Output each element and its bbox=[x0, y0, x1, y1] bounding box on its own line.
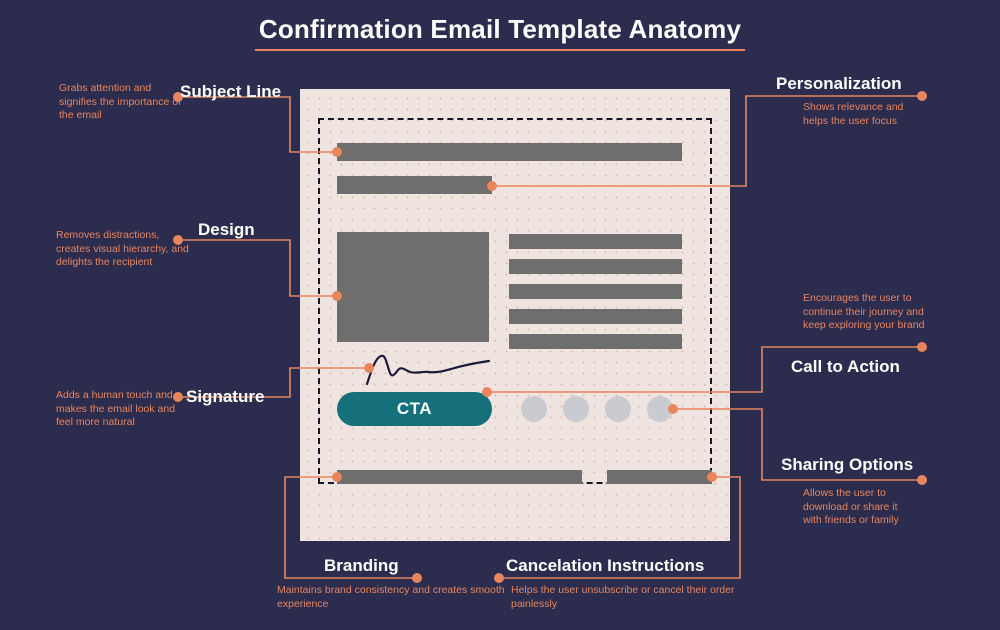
connector-dot bbox=[412, 573, 422, 583]
cta-button-label: CTA bbox=[397, 399, 432, 419]
label-subject-line: Subject Line bbox=[180, 82, 281, 102]
description-design: Removes distractions, creates visual hie… bbox=[56, 229, 191, 270]
body-text-bar bbox=[509, 259, 682, 274]
label-signature: Signature bbox=[186, 387, 264, 407]
social-share-icon[interactable] bbox=[605, 396, 631, 422]
infographic-canvas: Confirmation Email Template Anatomy CTA bbox=[0, 0, 1000, 630]
connector-dot bbox=[494, 573, 504, 583]
cancelation-footer-bar bbox=[607, 470, 712, 484]
description-subject-line: Grabs attention and signifies the import… bbox=[59, 82, 184, 123]
description-branding: Maintains brand consistency and creates … bbox=[277, 584, 507, 611]
body-text-bar bbox=[509, 309, 682, 324]
description-sharing-options: Allows the user to download or share it … bbox=[803, 487, 913, 528]
label-cancelation-instructions: Cancelation Instructions bbox=[506, 556, 704, 576]
description-call-to-action: Encourages the user to continue their jo… bbox=[803, 292, 928, 333]
subject-line-bar bbox=[337, 143, 682, 161]
personalization-bar bbox=[337, 176, 492, 194]
body-text-bar bbox=[509, 334, 682, 349]
social-share-icon[interactable] bbox=[521, 396, 547, 422]
branding-footer-bar bbox=[337, 470, 582, 484]
page-title-text: Confirmation Email Template Anatomy bbox=[255, 14, 745, 51]
description-cancelation-instructions: Helps the user unsubscribe or cancel the… bbox=[511, 584, 751, 611]
description-personalization: Shows relevance and helps the user focus bbox=[803, 101, 918, 128]
label-branding: Branding bbox=[324, 556, 399, 576]
body-text-bar bbox=[509, 234, 682, 249]
connector-dot bbox=[917, 91, 927, 101]
label-personalization: Personalization bbox=[776, 74, 902, 94]
social-share-icon[interactable] bbox=[563, 396, 589, 422]
social-share-icon[interactable] bbox=[647, 396, 673, 422]
cta-button[interactable]: CTA bbox=[337, 392, 492, 426]
hero-image-placeholder bbox=[337, 232, 489, 342]
label-sharing-options: Sharing Options bbox=[781, 455, 913, 475]
page-title: Confirmation Email Template Anatomy bbox=[0, 14, 1000, 51]
description-signature: Adds a human touch and makes the email l… bbox=[56, 389, 181, 430]
body-text-bar bbox=[509, 284, 682, 299]
connector-dot bbox=[917, 475, 927, 485]
connector-dot bbox=[917, 342, 927, 352]
label-call-to-action: Call to Action bbox=[791, 357, 900, 377]
label-design: Design bbox=[198, 220, 255, 240]
signature-squiggle-icon bbox=[365, 352, 495, 386]
